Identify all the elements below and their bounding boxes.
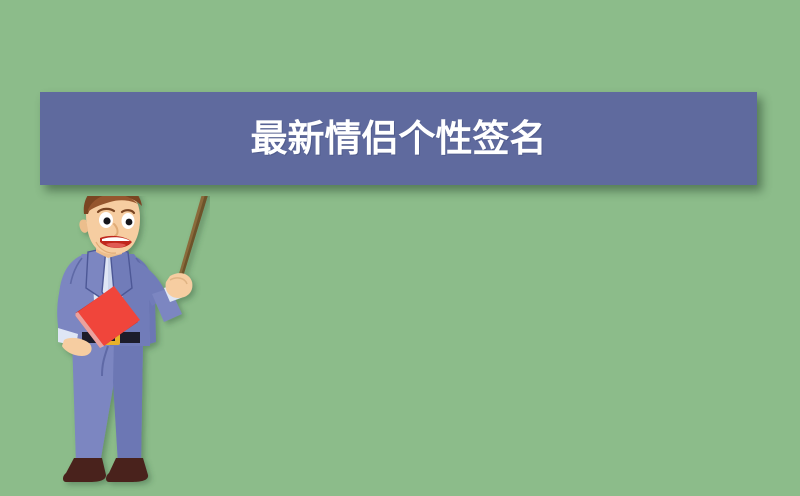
page-title: 最新情侣个性签名 — [251, 120, 547, 157]
pointer-stick-shade-icon — [179, 196, 210, 282]
right-shoe-icon — [106, 458, 148, 482]
right-pupil-icon — [126, 219, 133, 226]
trousers-shadow-icon — [113, 338, 143, 464]
left-shoe-icon — [63, 458, 106, 482]
right-hand-icon — [166, 273, 193, 298]
teacher-illustration — [30, 196, 210, 496]
left-pupil-icon — [103, 217, 110, 224]
title-banner: 最新情侣个性签名 — [40, 92, 757, 185]
page-canvas: 最新情侣个性签名 — [0, 0, 800, 496]
teacher-illustration-graphic — [30, 196, 210, 496]
